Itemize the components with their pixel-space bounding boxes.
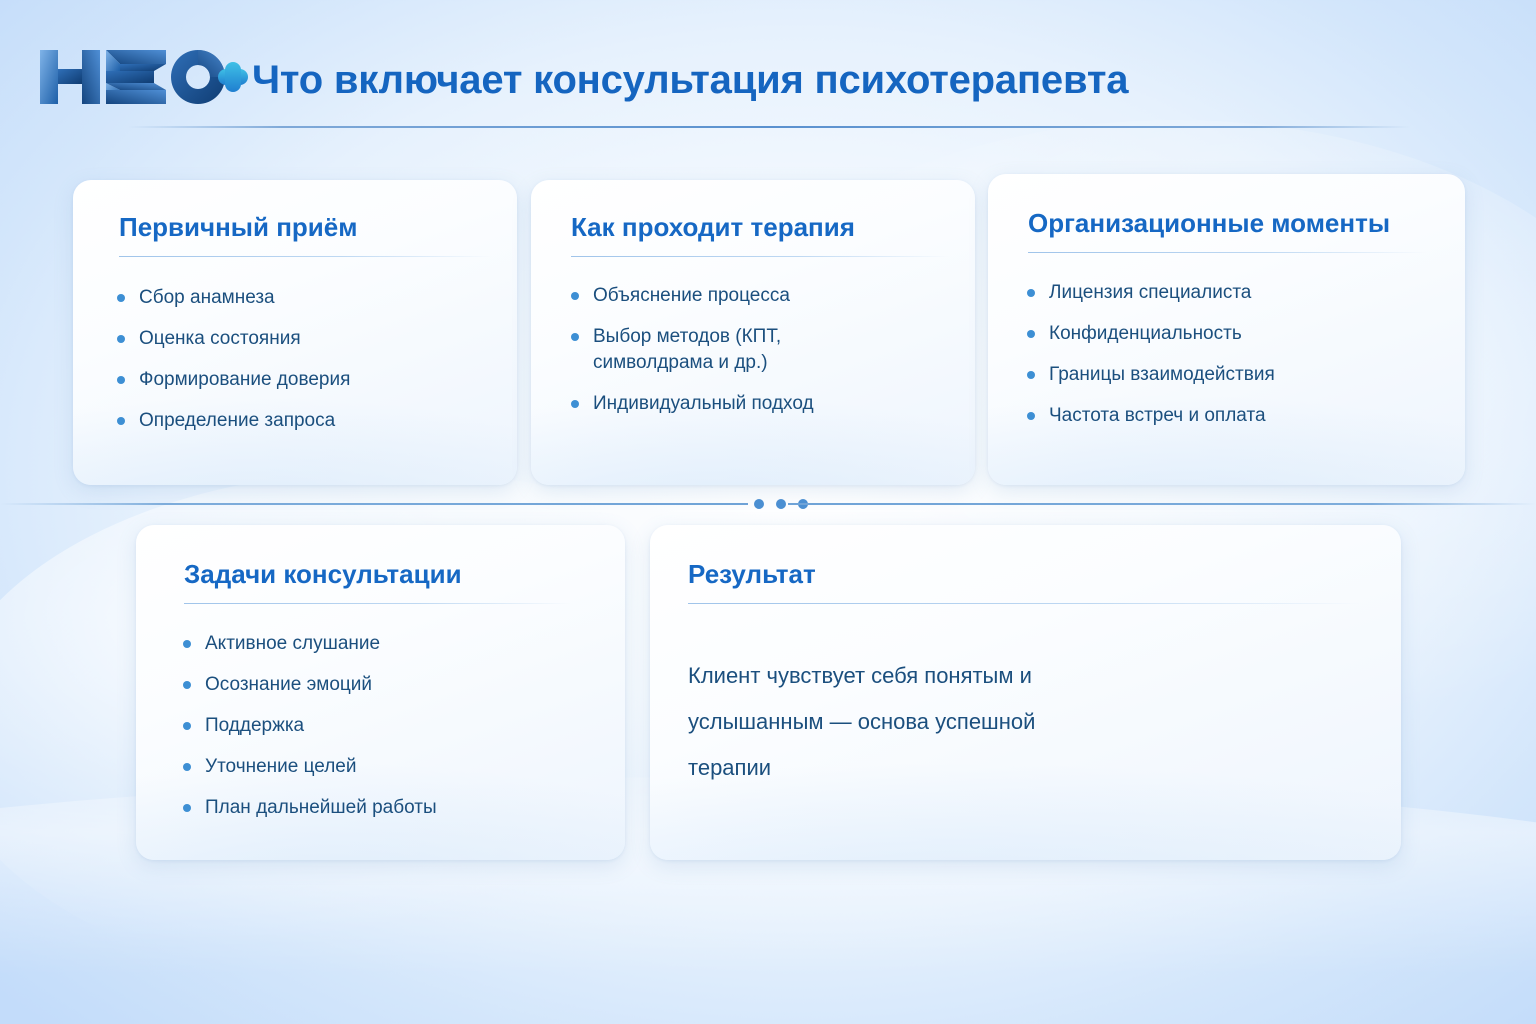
card-title: Задачи консультации <box>184 559 462 590</box>
list-item: Объяснение процесса <box>569 283 869 309</box>
card-pervichnyy-priem[interactable]: Первичный приём Сбор анамнеза Оценка сос… <box>73 180 517 485</box>
divider-dot <box>776 499 786 509</box>
card-bullet-list: Сбор анамнеза Оценка состояния Формирова… <box>115 285 455 434</box>
card-title: Организационные моменты <box>1028 208 1390 239</box>
list-item: Конфиденциальность <box>1025 321 1335 347</box>
card-title: Первичный приём <box>119 212 357 243</box>
list-item: Оценка состояния <box>115 326 455 352</box>
card-bullet-list: Активное слушание Осознание эмоций Подде… <box>181 631 511 821</box>
card-bullet-list: Лицензия специалиста Конфиденциальность … <box>1025 280 1335 429</box>
clipboard-profile-icon <box>449 480 517 485</box>
card-title: Как проходит терапия <box>571 212 855 243</box>
section-divider <box>0 497 1536 511</box>
list-item: Формирование доверия <box>115 367 455 393</box>
card-title-underline <box>184 603 571 604</box>
card-title-underline <box>119 256 491 257</box>
list-item: Осознание эмоций <box>181 672 511 698</box>
list-item: План дальнейшей работы <box>181 795 511 821</box>
divider-line-right <box>788 503 1536 505</box>
card-bullet-list: Объяснение процесса Выбор методов (КПТ, … <box>569 283 869 417</box>
card-title-underline <box>1028 252 1426 253</box>
list-item: Лицензия специалиста <box>1025 280 1335 306</box>
list-item: Выбор методов (КПТ, символдрама и др.) <box>569 324 869 376</box>
card-title-underline <box>571 256 949 257</box>
list-item: Поддержка <box>181 713 511 739</box>
page-header: Что включает консультация психотерапевта <box>0 0 1536 140</box>
divider-dot <box>754 499 764 509</box>
card-title: Результат <box>688 559 816 590</box>
card-kak-prohodit-terapiya[interactable]: Как проходит терапия Объяснение процесса… <box>531 180 975 485</box>
list-item: Частота встреч и оплата <box>1025 403 1335 429</box>
list-item: Активное слушание <box>181 631 511 657</box>
list-item: Индивидуальный подход <box>569 391 869 417</box>
card-zadachi-konsultacii[interactable]: Задачи консультации Активное слушание Ос… <box>136 525 625 860</box>
list-item: Границы взаимодействия <box>1025 362 1335 388</box>
card-title-underline <box>688 603 1360 604</box>
header-divider <box>128 126 1410 128</box>
list-item: Уточнение целей <box>181 754 511 780</box>
divider-line-left <box>0 503 748 505</box>
card-organizacionnye-momenty[interactable]: Организационные моменты Лицензия специал… <box>988 174 1465 485</box>
page-title: Что включает консультация психотерапевта <box>252 58 1128 103</box>
neo-plus-logo <box>38 44 250 110</box>
result-body-text: Клиент чувствует себя понятым и услышанн… <box>688 653 1108 791</box>
list-item: Сбор анамнеза <box>115 285 455 311</box>
list-item: Определение запроса <box>115 408 455 434</box>
card-rezultat[interactable]: Результат Клиент чувствует себя понятым … <box>650 525 1401 860</box>
